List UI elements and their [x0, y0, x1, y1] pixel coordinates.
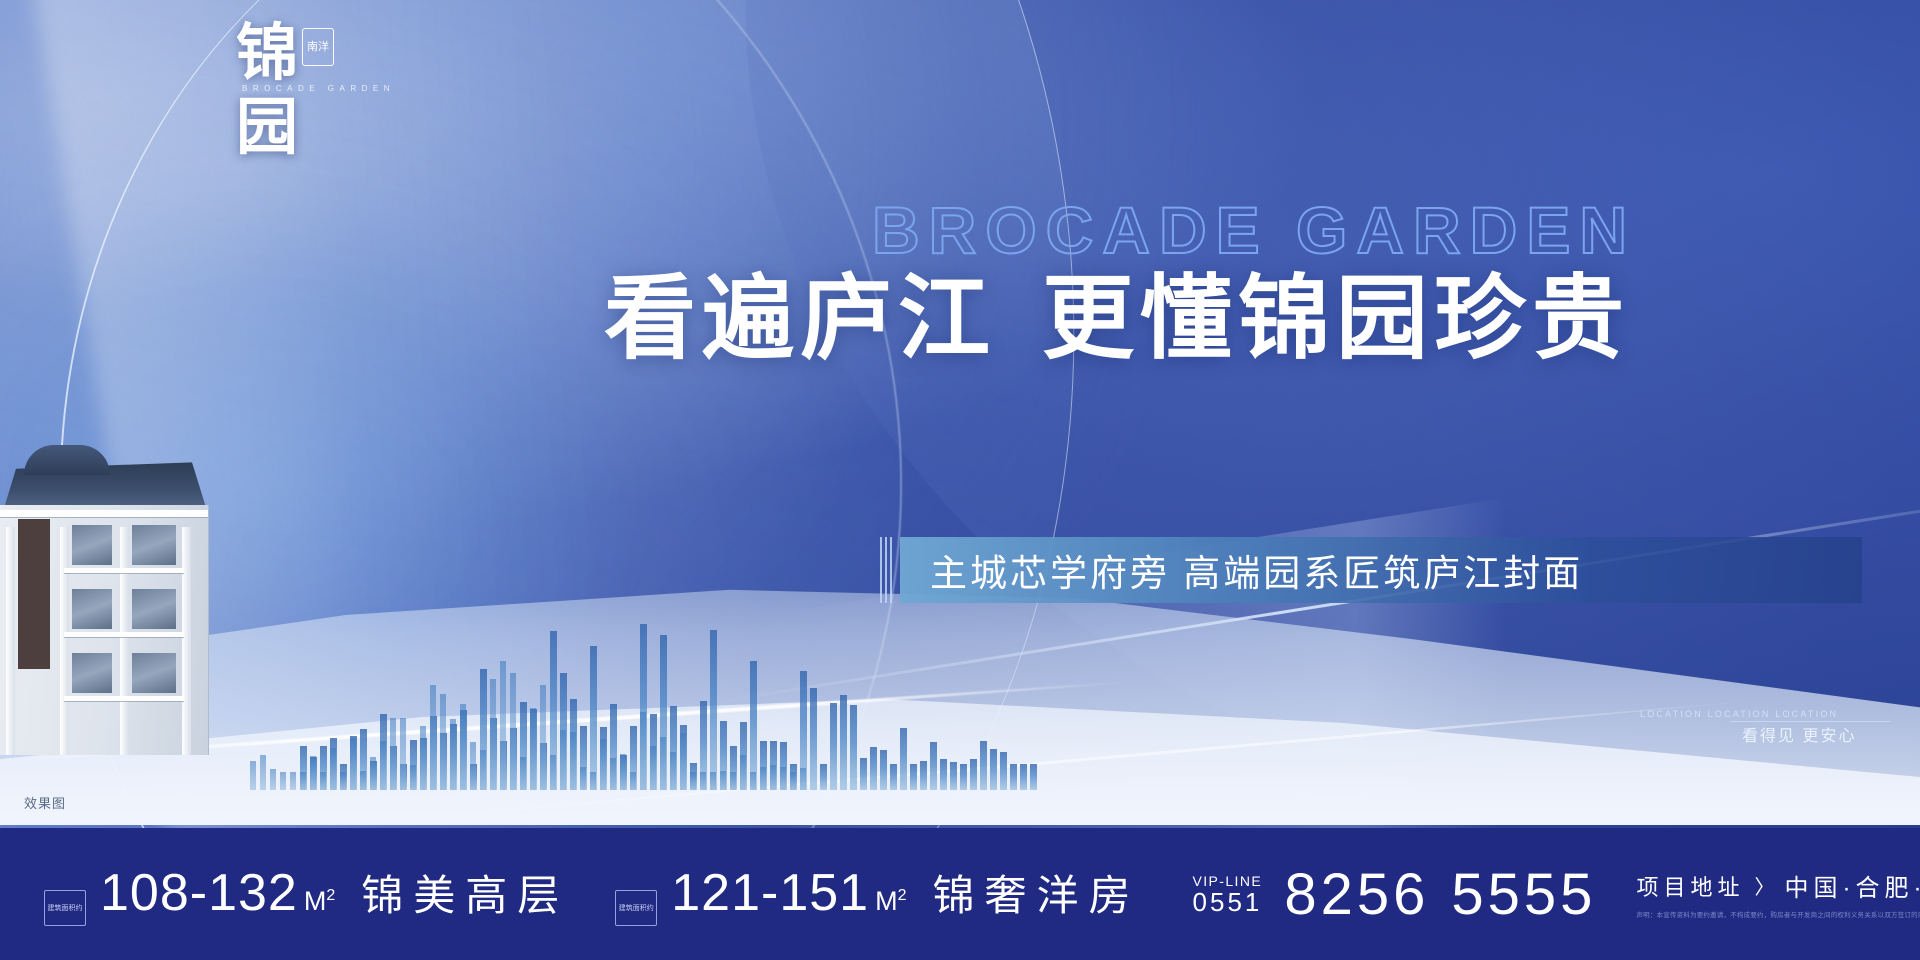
product-unit-1: M2: [304, 886, 335, 917]
footer-content: 建筑面积约 108-132 M2 锦美高层 建筑面积约 121-151 M2 锦…: [0, 861, 1920, 928]
subtitle-bar: 主城芯学府旁 高端园系匠筑庐江封面: [900, 537, 1862, 603]
building-window: [132, 653, 176, 693]
building-column: [182, 527, 191, 755]
building-illustration: [0, 455, 240, 755]
hero-outline-english: BROCADE GARDEN: [872, 192, 1636, 268]
sales-phone-number[interactable]: 82565555: [1284, 861, 1596, 928]
logo-character-bottom: 园: [236, 96, 298, 158]
product-item-2: 建筑面积约 121-151 M2 锦奢洋房: [615, 862, 1140, 927]
building-column: [60, 527, 69, 755]
address-line: 项目地址 〉 中国·合肥·庐江五里南路和临湖路交口: [1636, 868, 1920, 903]
product-unit-2: M2: [875, 886, 906, 917]
area-badge-text: 建筑面积约: [619, 905, 654, 913]
legal-disclaimer: 声明：本宣传资料为要约邀请，不构成要约，购房者与开发商之间的权利义务关系以双方签…: [1636, 911, 1920, 920]
building-column: [120, 527, 129, 755]
product-area-1: 108-132: [100, 863, 298, 923]
location-english-tagline: LOCATION LOCATION LOCATION: [1640, 709, 1838, 719]
area-badge-icon: 建筑面积约: [44, 890, 86, 926]
building-cornice: [0, 510, 208, 517]
product-name-2: 锦奢洋房: [933, 862, 1141, 923]
skyline-bars-back: [250, 640, 810, 790]
chevron-right-icon: 〉: [1754, 871, 1774, 900]
subtitle-bar-edge: [880, 537, 894, 603]
unit-letter: M: [875, 886, 898, 916]
hero-headline-right: 更懂锦园珍贵: [1042, 264, 1630, 372]
vip-area-code: 0551: [1193, 889, 1263, 915]
address-text: 中国·合肥·庐江五里南路和临湖路交口: [1784, 868, 1920, 903]
address-label: 项目地址: [1636, 870, 1744, 902]
building-window: [132, 589, 176, 629]
address-block: 项目地址 〉 中国·合肥·庐江五里南路和临湖路交口 声明：本宣传资料为要约邀请，…: [1636, 868, 1920, 920]
unit-superscript: 2: [326, 887, 335, 904]
area-badge-icon: 建筑面积约: [615, 890, 657, 926]
product-name-1: 锦美高层: [361, 862, 569, 923]
building-recess: [18, 519, 50, 669]
building-column: [6, 527, 15, 755]
phone-part-1: 8256: [1284, 862, 1429, 927]
product-area-2: 121-151: [671, 863, 869, 923]
unit-letter: M: [304, 886, 327, 916]
logo-character-top: 锦: [236, 22, 298, 84]
phone-part-2: 5555: [1451, 862, 1596, 927]
brand-logo[interactable]: 锦 南洋 BROCADE GARDEN 园: [236, 14, 348, 164]
building-window: [72, 653, 112, 693]
building-window: [132, 525, 176, 565]
location-chinese-tagline: 看得见 更安心: [1742, 722, 1856, 746]
poster-canvas: 锦 南洋 BROCADE GARDEN 园 BROCADE GARDEN 看遍庐…: [0, 0, 1920, 960]
building-window: [72, 589, 112, 629]
building-dormer: [24, 445, 110, 475]
hero-subtitle: 主城芯学府旁 高端园系匠筑庐江封面: [900, 543, 1583, 597]
logo-seal-text: 南洋: [307, 42, 329, 52]
building-balcony: [64, 696, 184, 701]
building-balcony: [64, 632, 184, 637]
building-window: [72, 525, 112, 565]
logo-seal: 南洋: [302, 28, 334, 66]
building-balcony: [64, 568, 184, 573]
rendering-disclaimer: 效果图: [24, 793, 66, 812]
product-item-1: 建筑面积约 108-132 M2 锦美高层: [44, 862, 569, 927]
unit-superscript: 2: [898, 887, 907, 904]
vip-line-block: VIP-LINE 0551: [1193, 874, 1263, 915]
hero-headline-left: 看遍庐江: [604, 264, 996, 372]
footer-bar: 建筑面积约 108-132 M2 锦美高层 建筑面积约 121-151 M2 锦…: [0, 828, 1920, 960]
area-badge-text: 建筑面积约: [48, 905, 83, 913]
hero-headline: 看遍庐江更懂锦园珍贵: [604, 272, 1630, 364]
